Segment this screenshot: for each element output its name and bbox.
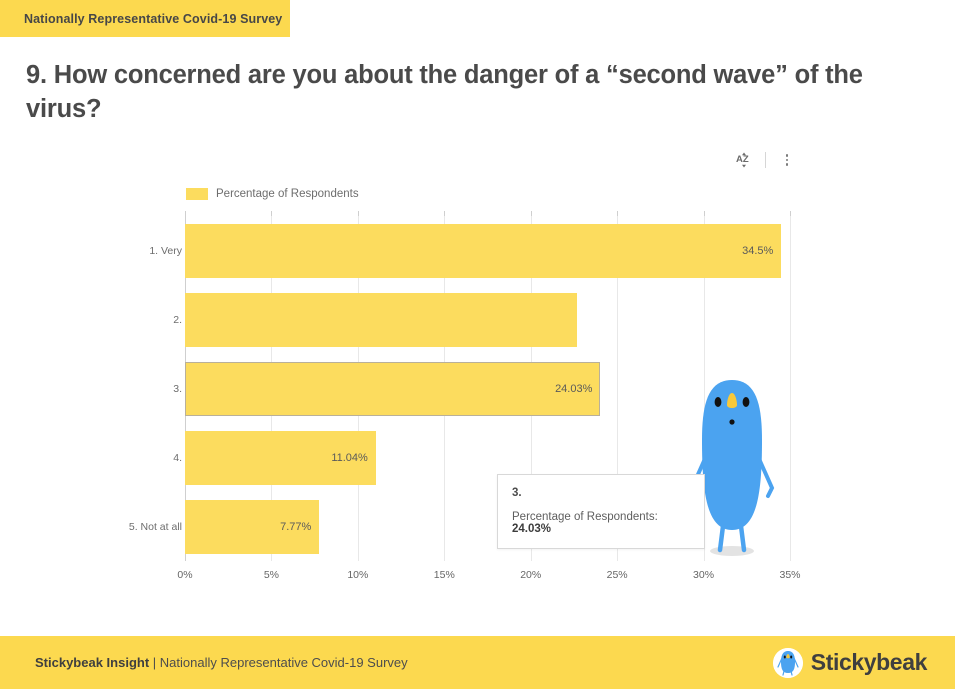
x-axis-tick-label: 0% — [177, 569, 192, 581]
x-axis-tick — [271, 211, 272, 216]
chart-toolbar: AZ — [731, 148, 800, 172]
category-label: 5. Not at all — [129, 521, 182, 533]
x-axis-tick-label: 25% — [607, 569, 628, 581]
page-title: 9. How concerned are you about the dange… — [26, 58, 886, 126]
bar-row: 1. Very34.5% — [185, 224, 790, 278]
tooltip-value: 24.03% — [512, 523, 551, 535]
footer-text: Stickybeak Insight | Nationally Represen… — [35, 655, 408, 670]
footer-brand: Stickybeak Insight — [35, 655, 149, 670]
footer-survey-name: Nationally Representative Covid-19 Surve… — [160, 655, 408, 670]
stickybeak-logo-wordmark: Stickybeak — [811, 649, 927, 676]
bar-value-label: 11.04% — [331, 452, 368, 464]
chart-tooltip: 3. Percentage of Respondents: 24.03% — [497, 474, 705, 549]
bar-value-label: 7.77% — [280, 521, 311, 533]
survey-banner: Nationally Representative Covid-19 Surve… — [0, 0, 290, 37]
more-options-button[interactable] — [774, 148, 800, 172]
category-label: 1. Very — [149, 245, 182, 257]
x-axis-tick — [358, 211, 359, 216]
sort-az-button[interactable]: AZ — [731, 148, 757, 172]
bar-value-label: 34.5% — [742, 245, 773, 257]
x-axis-tick — [790, 211, 791, 216]
stickybeak-logo[interactable]: Stickybeak — [773, 648, 927, 678]
x-axis-tick — [531, 211, 532, 216]
footer-bar: Stickybeak Insight | Nationally Represen… — [0, 636, 955, 689]
x-axis-tick — [444, 211, 445, 216]
stickybeak-logo-bird-icon — [773, 648, 803, 678]
x-axis-tick-label: 30% — [693, 569, 714, 581]
survey-banner-label: Nationally Representative Covid-19 Surve… — [24, 12, 282, 26]
tooltip-series-label: Percentage of Respondents: — [512, 511, 658, 523]
more-options-icon — [786, 154, 789, 166]
gridline — [790, 216, 791, 561]
x-axis-tick — [617, 211, 618, 216]
tooltip-title: 3. — [512, 487, 690, 499]
bar-value-label: 24.03% — [555, 383, 592, 395]
svg-text:AZ: AZ — [736, 154, 749, 165]
x-axis-tick-label: 20% — [520, 569, 541, 581]
sort-az-icon: AZ — [734, 150, 754, 170]
x-axis-tick — [185, 211, 186, 216]
category-label: 3. — [173, 383, 182, 395]
category-label: 4. — [173, 452, 182, 464]
bar[interactable] — [185, 362, 600, 416]
x-axis-tick-label: 35% — [779, 569, 800, 581]
chart-legend[interactable]: Percentage of Respondents — [186, 188, 359, 200]
category-label: 2. — [173, 314, 182, 326]
x-axis-tick-label: 15% — [434, 569, 455, 581]
x-axis-tick-label: 5% — [264, 569, 279, 581]
x-axis-tick — [704, 211, 705, 216]
legend-swatch-percentage — [186, 188, 208, 200]
bar-row: 2. — [185, 293, 790, 347]
footer-separator: | — [153, 655, 156, 670]
toolbar-divider — [765, 152, 766, 168]
bar[interactable] — [185, 224, 781, 278]
legend-label-percentage: Percentage of Respondents — [216, 188, 359, 200]
x-axis-tick-label: 10% — [347, 569, 368, 581]
bar[interactable] — [185, 293, 577, 347]
tooltip-value-row: Percentage of Respondents: 24.03% — [512, 511, 690, 535]
